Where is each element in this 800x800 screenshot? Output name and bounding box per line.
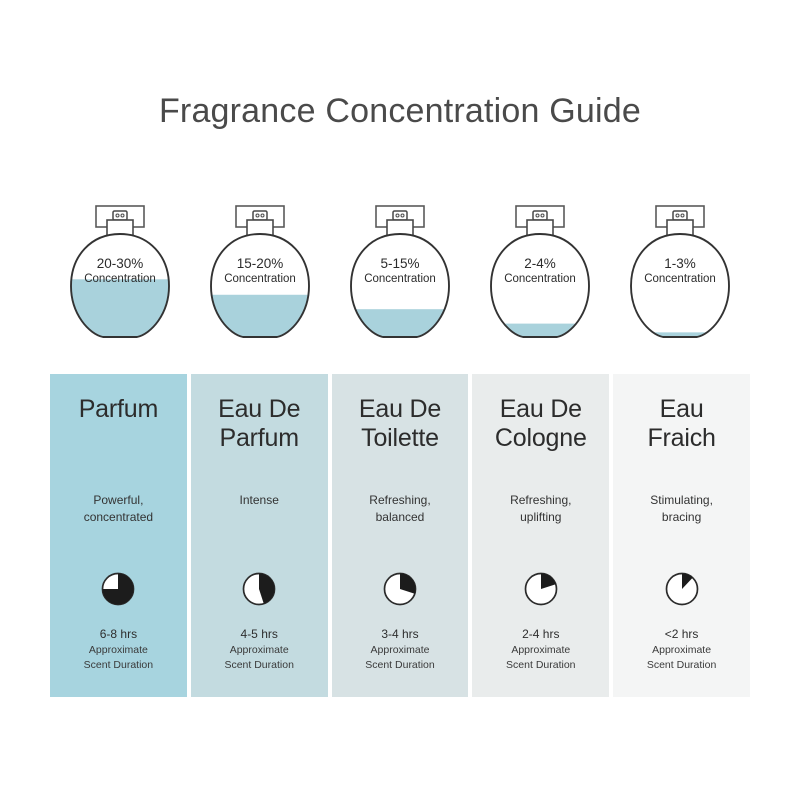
card-pie-wrap (472, 568, 609, 610)
card-pie-wrap (332, 568, 469, 610)
card-duration-value: 2-4 hrs (472, 626, 609, 643)
bottle-svg (197, 200, 323, 352)
card-title: Eau DeToilette (332, 395, 469, 453)
bottle-graphic: 15-20%Concentration (197, 200, 323, 352)
scent-duration-pie-icon (97, 568, 139, 610)
bottle-2: 15-20%Concentration (190, 200, 330, 360)
scent-duration-pie-icon (661, 568, 703, 610)
card-pie-wrap (50, 568, 187, 610)
bottle-svg (477, 200, 603, 352)
card-duration-block: 2-4 hrsApproximateScent Duration (472, 626, 609, 673)
infographic-root: Fragrance Concentration Guide 20-30%Conc… (0, 0, 800, 800)
bottle-body-fill (491, 234, 589, 337)
card-pie-wrap (191, 568, 328, 610)
fragrance-card-3[interactable]: Eau DeToiletteRefreshing,balanced3-4 hrs… (332, 374, 469, 697)
scent-duration-pie-icon (379, 568, 421, 610)
bottle-body-fill (631, 234, 729, 337)
card-description: Refreshing,uplifting (472, 492, 609, 527)
card-title: Eau DeParfum (191, 395, 328, 453)
bottle-row: 20-30%Concentration15-20%Concentration5-… (50, 200, 750, 360)
bottle-4: 2-4%Concentration (470, 200, 610, 360)
bottle-5: 1-3%Concentration (610, 200, 750, 360)
card-duration-value: <2 hrs (613, 626, 750, 643)
card-description: Refreshing,balanced (332, 492, 469, 527)
bottle-graphic: 2-4%Concentration (477, 200, 603, 352)
fragrance-card-2[interactable]: Eau DeParfumIntense4-5 hrsApproximateSce… (191, 374, 328, 697)
card-duration-block: <2 hrsApproximateScent Duration (613, 626, 750, 673)
card-title: Eau DeCologne (472, 395, 609, 453)
bottle-liquid (197, 295, 323, 340)
bottle-cap-emblem (393, 211, 407, 220)
card-duration-value: 3-4 hrs (332, 626, 469, 643)
scent-duration-pie-icon (520, 568, 562, 610)
card-duration-block: 4-5 hrsApproximateScent Duration (191, 626, 328, 673)
bottle-cap-emblem (253, 211, 267, 220)
card-duration-value: 4-5 hrs (191, 626, 328, 643)
bottle-svg (617, 200, 743, 352)
card-duration-value: 6-8 hrs (50, 626, 187, 643)
bottle-cap-emblem (113, 211, 127, 220)
bottle-svg (57, 200, 183, 352)
bottle-svg (337, 200, 463, 352)
card-pie-wrap (613, 568, 750, 610)
fragrance-card-4[interactable]: Eau DeCologneRefreshing,uplifting2-4 hrs… (472, 374, 609, 697)
card-description: Stimulating,bracing (613, 492, 750, 527)
bottle-cap-emblem (533, 211, 547, 220)
card-title: EauFraich (613, 395, 750, 453)
card-duration-note: ApproximateScent Duration (50, 643, 187, 673)
card-description: Powerful,concentrated (50, 492, 187, 527)
card-duration-block: 6-8 hrsApproximateScent Duration (50, 626, 187, 673)
card-description: Intense (191, 492, 328, 509)
bottle-liquid (337, 309, 463, 340)
bottle-graphic: 20-30%Concentration (57, 200, 183, 352)
fragrance-card-1[interactable]: ParfumPowerful,concentrated6-8 hrsApprox… (50, 374, 187, 697)
bottle-graphic: 5-15%Concentration (337, 200, 463, 352)
card-duration-block: 3-4 hrsApproximateScent Duration (332, 626, 469, 673)
bottle-1: 20-30%Concentration (50, 200, 190, 360)
card-duration-note: ApproximateScent Duration (613, 643, 750, 673)
page-title: Fragrance Concentration Guide (0, 92, 800, 131)
scent-duration-pie-icon (238, 568, 280, 610)
card-duration-note: ApproximateScent Duration (472, 643, 609, 673)
bottle-3: 5-15%Concentration (330, 200, 470, 360)
card-duration-note: ApproximateScent Duration (191, 643, 328, 673)
bottle-cap-emblem (673, 211, 687, 220)
fragrance-card-5[interactable]: EauFraichStimulating,bracing<2 hrsApprox… (613, 374, 750, 697)
bottle-graphic: 1-3%Concentration (617, 200, 743, 352)
fragrance-card-row: ParfumPowerful,concentrated6-8 hrsApprox… (50, 374, 750, 697)
card-title: Parfum (50, 395, 187, 424)
card-duration-note: ApproximateScent Duration (332, 643, 469, 673)
